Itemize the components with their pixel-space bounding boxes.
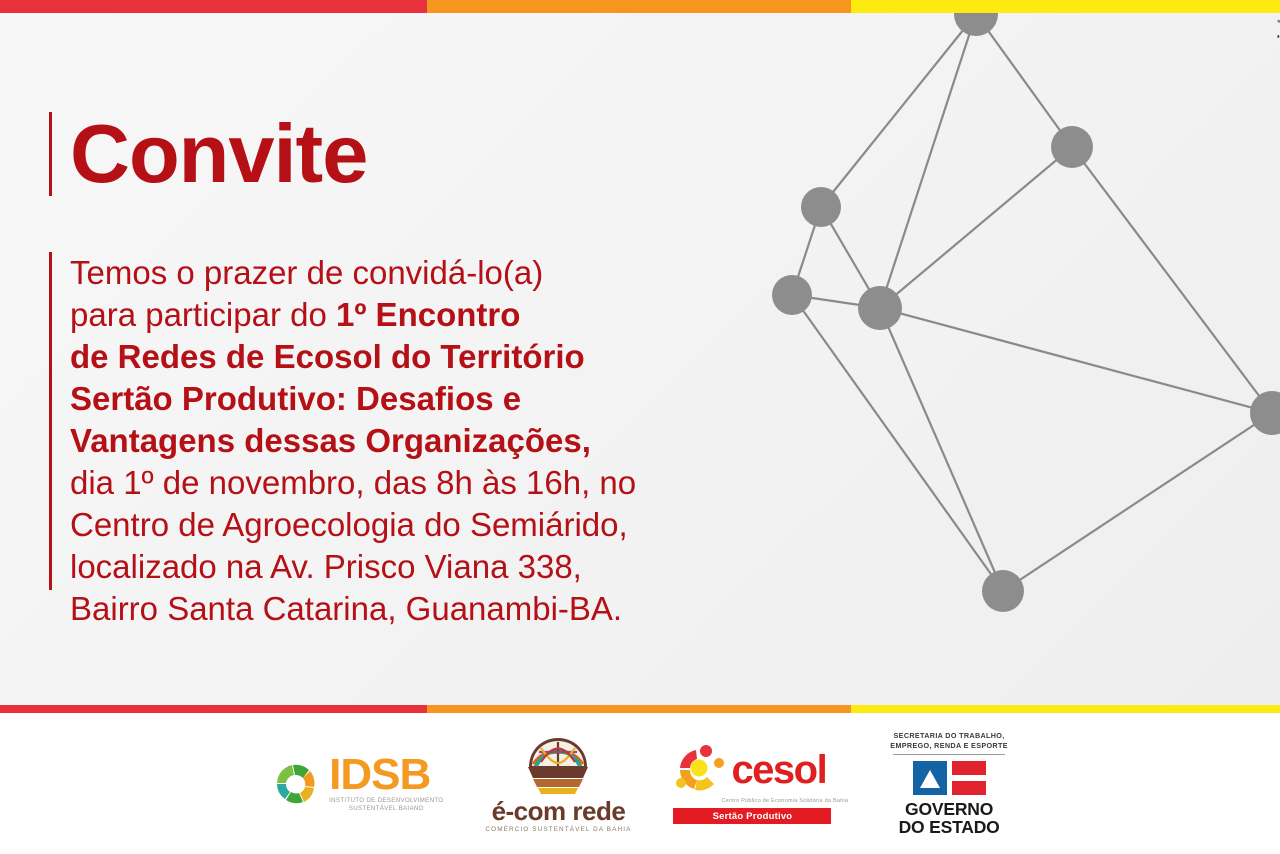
body-line-5: Vantagens dessas Organizações, (70, 422, 591, 459)
network-edge (1072, 147, 1272, 413)
logo-cesol: cesol Centro Público de Economia Solidár… (673, 743, 848, 824)
top-bar-orange-segment (427, 0, 851, 13)
ecom-rede-subtitle: COMÉRCIO SUSTENTÁVEL DA BAHIA (485, 826, 631, 833)
body-line-2-plain: para participar do (70, 296, 336, 333)
bahia-flag-blue-triangle-icon (913, 761, 947, 795)
network-edge (821, 14, 976, 207)
top-bar-yellow-segment (851, 0, 1280, 13)
logo-governo-do-estado: SECRETARIA DO TRABALHO, EMPREGO, RENDA E… (890, 731, 1008, 836)
idsb-subtitle: INSTITUTO DE DESENVOLVIMENTO SUSTENTÁVEL… (329, 797, 443, 812)
title-block: Convite (49, 112, 367, 196)
idsb-globe-icon (272, 760, 320, 808)
network-edge (880, 308, 1003, 591)
logo-idsb: IDSB INSTITUTO DE DESENVOLVIMENTO SUSTEN… (272, 755, 443, 812)
top-color-bar (0, 0, 1280, 13)
body-line-9: Bairro Santa Catarina, Guanambi-BA. (70, 590, 622, 627)
network-edge (880, 14, 976, 308)
network-node (982, 570, 1024, 612)
ecom-rede-wordmark: é-com rede (492, 798, 626, 824)
network-graphic (720, 0, 1280, 660)
governo-divider (893, 754, 1005, 755)
bottom-bar-yellow-segment (851, 705, 1280, 713)
secretaria-line-2: EMPREGO, RENDA E ESPORTE (890, 741, 1008, 750)
cesol-mark-row: cesol (673, 743, 826, 797)
page-title: Convite (70, 112, 367, 196)
body-line-8: localizado na Av. Prisco Viana 338, (70, 548, 582, 585)
bottom-bar-orange-segment (427, 705, 851, 713)
network-node (858, 286, 902, 330)
secretaria-label: SECRETARIA DO TRABALHO, EMPREGO, RENDA E… (890, 731, 1008, 750)
invitation-text: Temos o prazer de convidá-lo(a) para par… (70, 252, 636, 630)
logo-ecom-rede: é-com rede COMÉRCIO SUSTENTÁVEL DA BAHIA (485, 734, 631, 833)
bottom-color-bar (0, 705, 1280, 713)
bottom-bar-red-segment (0, 705, 427, 713)
cesol-wordmark: cesol (731, 752, 826, 788)
mais-watermark-text: mais (1274, 24, 1280, 65)
governo-wordmark: GOVERNO DO ESTADO (899, 800, 1000, 836)
ecom-rede-basket-icon (515, 734, 601, 796)
idsb-subtitle-line-1: INSTITUTO DE DESENVOLVIMENTO (329, 797, 443, 804)
cesol-ribbon-label: Sertão Produtivo (673, 808, 831, 824)
body-block: Temos o prazer de convidá-lo(a) para par… (49, 252, 636, 630)
network-node (772, 275, 812, 315)
invitation-poster: mais& Convite Temos o prazer de convidá-… (0, 0, 1280, 854)
idsb-subtitle-line-2: SUSTENTÁVEL BAIANO (349, 805, 424, 812)
network-node (801, 187, 841, 227)
bahia-flag-red-stripes-icon (952, 761, 986, 795)
network-edge (792, 295, 1003, 591)
network-node (1250, 391, 1280, 435)
mais-watermark: mais& (1274, 18, 1280, 64)
body-line-2-bold: 1º Encontro (336, 296, 520, 333)
network-node (1051, 126, 1093, 168)
network-edge (1003, 413, 1272, 591)
cesol-subtitle: Centro Público de Economia Solidária da … (721, 798, 848, 804)
idsb-wordmark: IDSB (329, 755, 443, 795)
network-edge (880, 147, 1072, 308)
title-accent-rule (49, 112, 52, 196)
governo-line-1: GOVERNO (905, 799, 993, 819)
body-line-6: dia 1º de novembro, das 8h às 16h, no (70, 464, 636, 501)
governo-line-2: DO ESTADO (899, 817, 1000, 837)
body-line-7: Centro de Agroecologia do Semiárido, (70, 506, 628, 543)
network-edge (976, 14, 1072, 147)
secretaria-line-1: SECRETARIA DO TRABALHO, (894, 731, 1005, 740)
top-bar-red-segment (0, 0, 427, 13)
body-line-3: de Redes de Ecosol do Território (70, 338, 585, 375)
cesol-people-swirl-icon (673, 743, 727, 797)
bahia-flag-icon (913, 761, 986, 795)
footer-logo-strip: IDSB INSTITUTO DE DESENVOLVIMENTO SUSTEN… (0, 713, 1280, 854)
body-line-1: Temos o prazer de convidá-lo(a) (70, 254, 543, 291)
network-edge (880, 308, 1272, 413)
body-line-4: Sertão Produtivo: Desafios e (70, 380, 521, 417)
body-accent-rule (49, 252, 52, 590)
